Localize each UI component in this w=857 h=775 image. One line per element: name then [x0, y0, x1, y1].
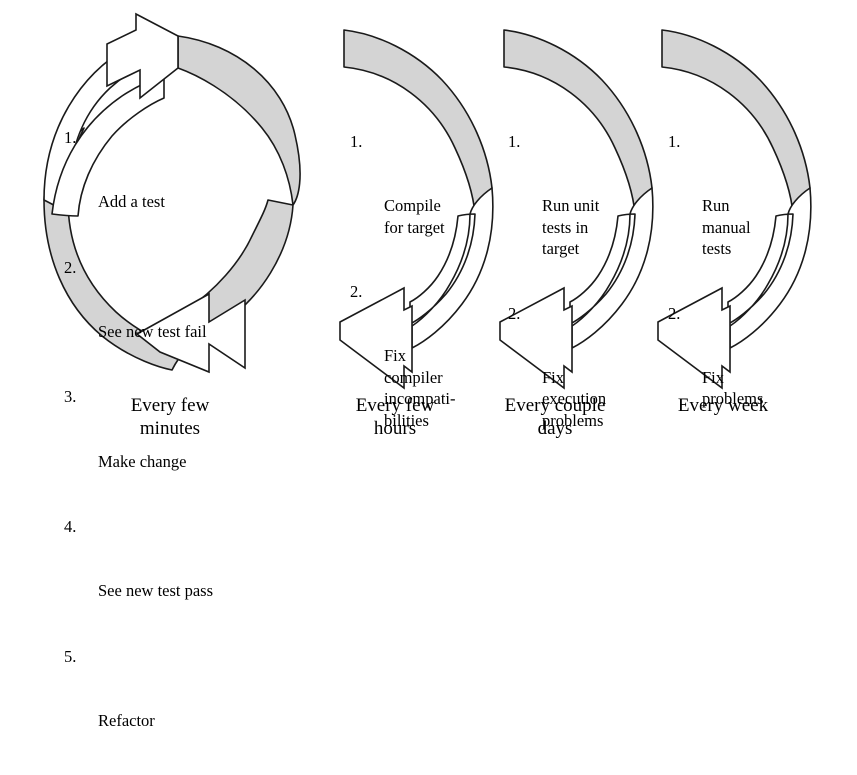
list-item: 1. Run manual tests	[668, 131, 760, 303]
caption-line: days	[470, 417, 640, 440]
step-number: 3.	[64, 386, 76, 407]
cycle-1-step-list: 1. Add a test 2. See new test fail 3. Ma…	[64, 127, 274, 775]
cycle-1-steps: 1. Add a test 2. See new test fail 3. Ma…	[64, 127, 274, 774]
step-number: 1.	[668, 131, 680, 152]
step-number: 1.	[508, 131, 520, 152]
list-item: 5. Refactor	[64, 646, 274, 775]
cycle-4-caption: Every week	[638, 394, 808, 417]
caption-line: Every week	[638, 394, 808, 417]
caption-line: Every couple	[470, 394, 640, 417]
list-item: 2. See new test fail	[64, 257, 274, 386]
cycle-1-caption: Every few minutes	[82, 394, 258, 440]
step-text: See new test pass	[98, 580, 274, 601]
cycle-diagram: 1. Add a test 2. See new test fail 3. Ma…	[0, 0, 857, 477]
list-item: 4. See new test pass	[64, 516, 274, 645]
list-item: 1. Compile for target	[350, 131, 454, 281]
step-number: 1.	[64, 127, 76, 148]
step-number: 2.	[350, 281, 362, 302]
caption-line: minutes	[82, 417, 258, 440]
step-text: Compile for target	[384, 195, 454, 238]
list-item: 1. Run unit tests in target	[508, 131, 606, 303]
step-text: See new test fail	[98, 321, 274, 342]
step-number: 5.	[64, 646, 76, 667]
step-text: Refactor	[98, 710, 274, 731]
cycle-3-caption: Every couple days	[470, 394, 640, 440]
list-item: 2. Fix compiler incompati-bilities	[350, 281, 454, 474]
step-number: 1.	[350, 131, 362, 152]
step-number: 2.	[668, 303, 680, 324]
caption-line: Every few	[320, 394, 470, 417]
cycle-1-arrowhead-top	[107, 14, 178, 98]
caption-line: Every few	[82, 394, 258, 417]
cycle-2-caption: Every few hours	[320, 394, 470, 440]
step-text: Add a test	[98, 191, 274, 212]
list-item: 2. Fix problems	[668, 303, 760, 453]
step-number: 4.	[64, 516, 76, 537]
step-text: Run manual tests	[702, 195, 760, 259]
step-number: 2.	[508, 303, 520, 324]
step-text: Make change	[98, 451, 274, 472]
step-number: 2.	[64, 257, 76, 278]
caption-line: hours	[320, 417, 470, 440]
list-item: 1. Add a test	[64, 127, 274, 256]
list-item: 2. Fix execution problems	[508, 303, 606, 475]
step-text: Run unit tests in target	[542, 195, 606, 259]
